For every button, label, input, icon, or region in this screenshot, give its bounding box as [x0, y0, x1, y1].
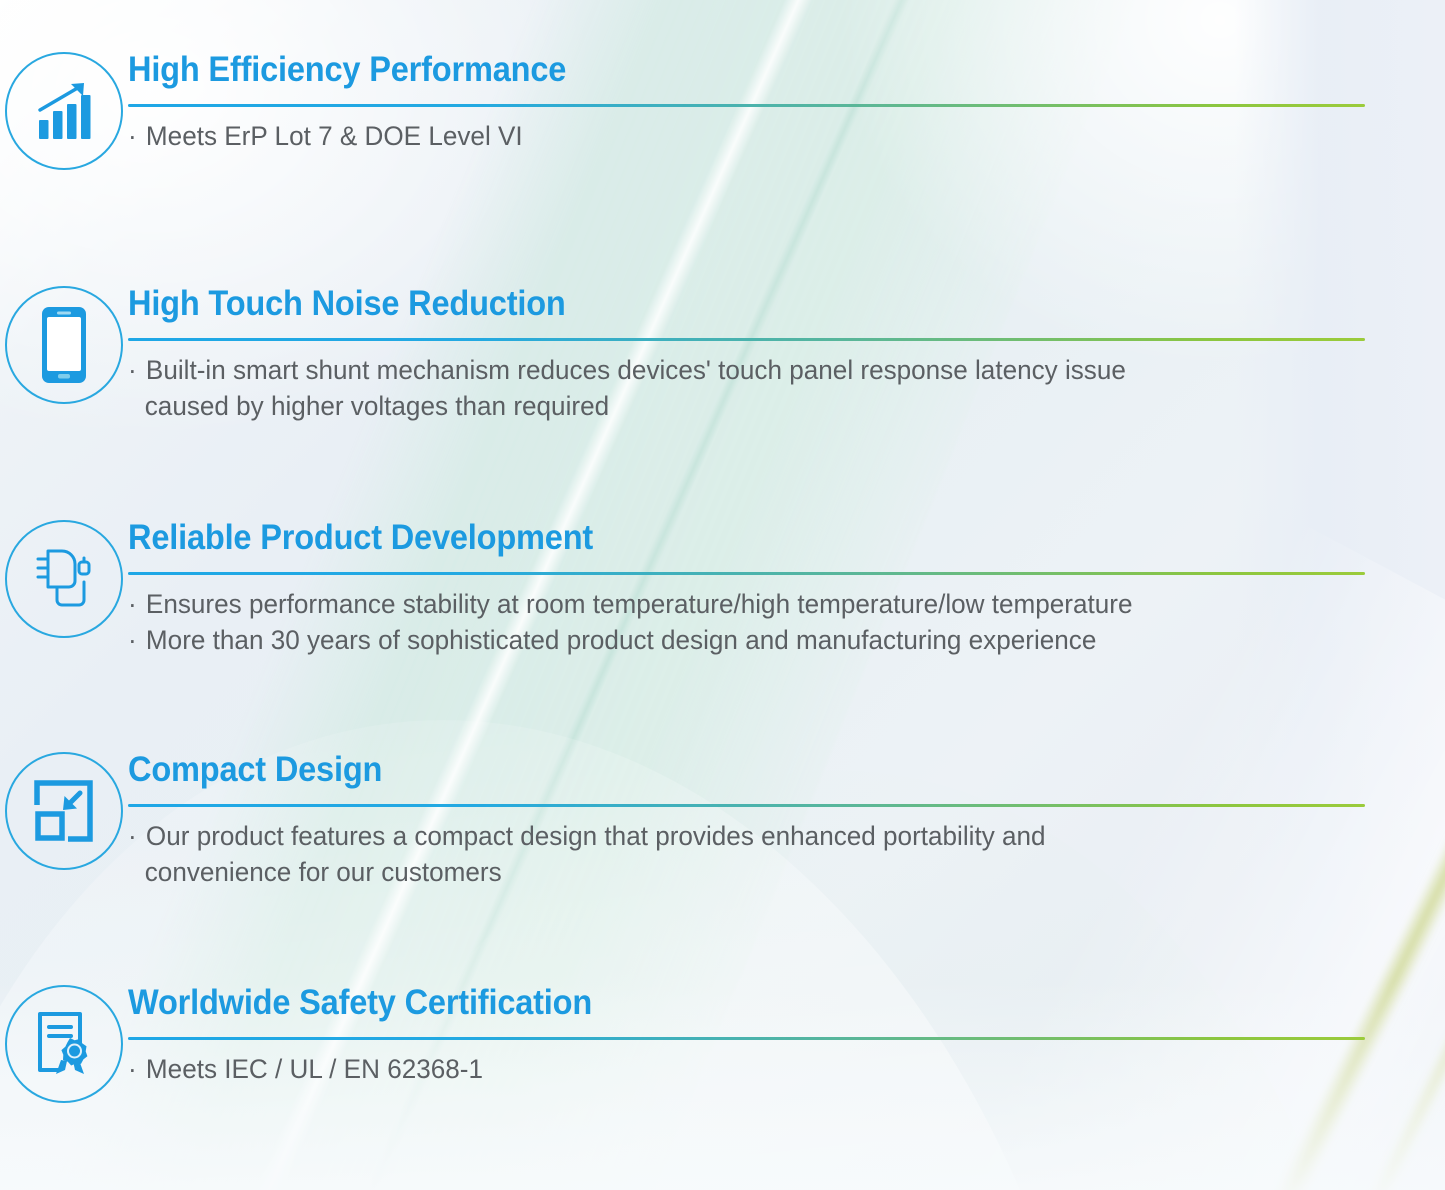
bullet-marker: · — [128, 821, 139, 851]
feature-divider — [128, 1037, 1365, 1040]
feature-text-block: Reliable Product Development · Ensures p… — [128, 520, 1365, 659]
icon-circle — [5, 286, 123, 404]
background-wave-white — [0, 657, 1114, 1190]
bar-chart-growth-icon — [32, 79, 96, 143]
feature-body: · Meets ErP Lot 7 & DOE Level VI — [128, 118, 1346, 155]
feature-bullet-line: · Meets IEC / UL / EN 62368-1 — [128, 1051, 1346, 1088]
feature-divider — [128, 572, 1365, 575]
icon-circle — [5, 52, 123, 170]
icon-circle — [5, 752, 123, 870]
feature-text-block: High Touch Noise Reduction · Built-in sm… — [128, 286, 1365, 425]
feature-bullet-line: caused by higher voltages than required — [128, 388, 1346, 425]
feature-title: High Efficiency Performance — [128, 52, 1278, 89]
feature-bullet-line: · Ensures performance stability at room … — [128, 586, 1346, 623]
bullet-text: Our product features a compact design th… — [146, 821, 1046, 851]
feature-divider — [128, 104, 1365, 107]
feature-title: Reliable Product Development — [128, 520, 1278, 557]
power-adapter-icon — [27, 546, 101, 612]
feature-body: · Built-in smart shunt mechanism reduces… — [128, 352, 1346, 425]
bullet-text: caused by higher voltages than required — [145, 391, 609, 421]
bullet-text: Meets IEC / UL / EN 62368-1 — [146, 1054, 483, 1084]
feature-item-high-efficiency-performance: High Efficiency Performance · Meets ErP … — [0, 52, 1365, 170]
bullet-text: Built-in smart shunt mechanism reduces d… — [146, 355, 1126, 385]
feature-divider — [128, 338, 1365, 341]
bullet-marker: · — [128, 625, 139, 655]
certificate-award-icon — [32, 1010, 96, 1078]
feature-text-block: Compact Design · Our product features a … — [128, 752, 1365, 891]
bullet-text: Ensures performance stability at room te… — [146, 589, 1133, 619]
feature-title: Compact Design — [128, 752, 1278, 789]
feature-bullet-line: convenience for our customers — [128, 854, 1346, 891]
feature-text-block: Worldwide Safety Certification · Meets I… — [128, 985, 1365, 1087]
feature-item-reliable-product-development: Reliable Product Development · Ensures p… — [0, 520, 1365, 659]
bullet-text: convenience for our customers — [145, 857, 502, 887]
feature-body: · Ensures performance stability at room … — [128, 586, 1346, 659]
smartphone-icon — [41, 306, 87, 384]
feature-list-page: High Efficiency Performance · Meets ErP … — [0, 0, 1445, 1190]
icon-circle — [5, 985, 123, 1103]
bullet-marker: · — [128, 589, 139, 619]
feature-item-worldwide-safety-certification: Worldwide Safety Certification · Meets I… — [0, 985, 1365, 1103]
feature-divider — [128, 804, 1365, 807]
feature-icon-wrap — [0, 286, 128, 404]
feature-icon-wrap — [0, 52, 128, 170]
feature-bullet-line: · Built-in smart shunt mechanism reduces… — [128, 352, 1346, 389]
bullet-text: Meets ErP Lot 7 & DOE Level VI — [146, 121, 523, 151]
feature-bullet-line: · Our product features a compact design … — [128, 818, 1346, 855]
bullet-marker: · — [128, 1054, 139, 1084]
bullet-marker: · — [128, 121, 139, 151]
compact-resize-icon — [33, 779, 95, 843]
feature-bullet-line: · Meets ErP Lot 7 & DOE Level VI — [128, 118, 1346, 155]
bullet-marker: · — [128, 355, 139, 385]
feature-icon-wrap — [0, 520, 128, 638]
feature-title: High Touch Noise Reduction — [128, 286, 1278, 323]
feature-body: · Meets IEC / UL / EN 62368-1 — [128, 1051, 1346, 1088]
feature-icon-wrap — [0, 752, 128, 870]
feature-body: · Our product features a compact design … — [128, 818, 1346, 891]
feature-item-high-touch-noise-reduction: High Touch Noise Reduction · Built-in sm… — [0, 286, 1365, 425]
feature-text-block: High Efficiency Performance · Meets ErP … — [128, 52, 1365, 154]
feature-icon-wrap — [0, 985, 128, 1103]
feature-item-compact-design: Compact Design · Our product features a … — [0, 752, 1365, 891]
feature-bullet-line: · More than 30 years of sophisticated pr… — [128, 622, 1346, 659]
bullet-text: More than 30 years of sophisticated prod… — [146, 625, 1096, 655]
icon-circle — [5, 520, 123, 638]
feature-title: Worldwide Safety Certification — [128, 985, 1278, 1022]
